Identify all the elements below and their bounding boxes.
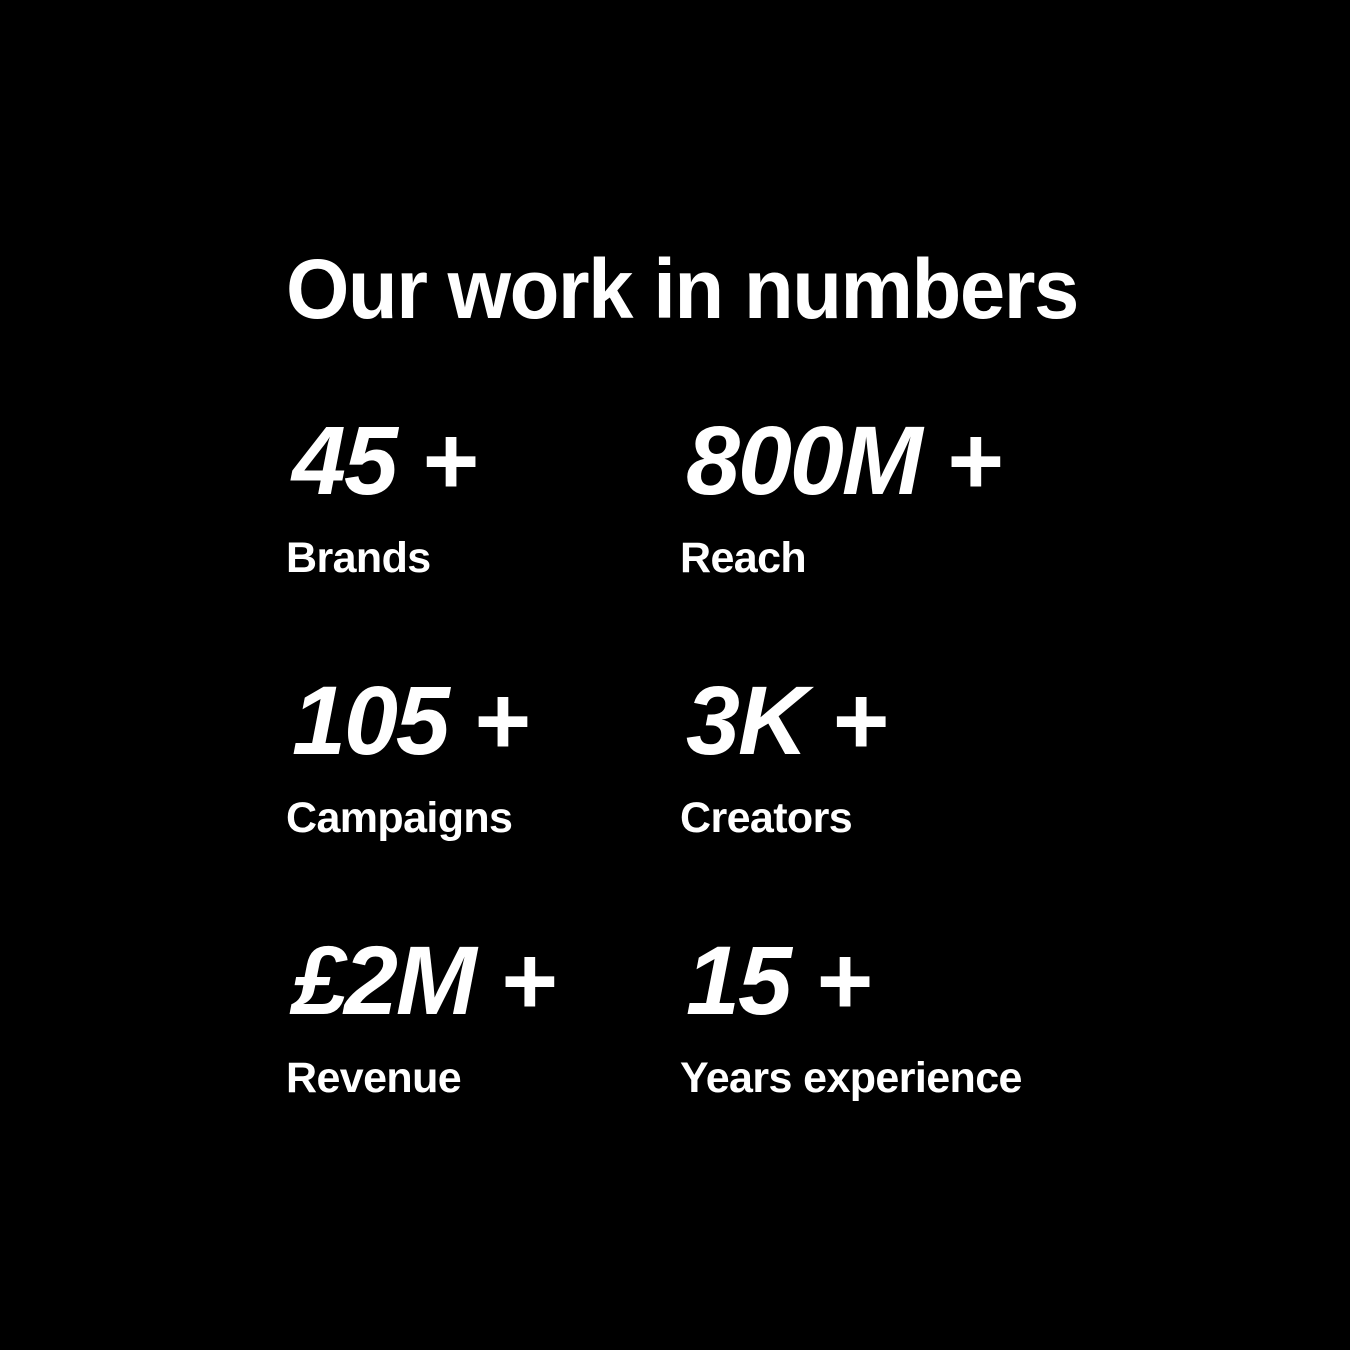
stat-item-campaigns: 105 + Campaigns bbox=[286, 672, 680, 932]
stat-value-reach: 800M + bbox=[686, 412, 1074, 509]
stat-label-reach: Reach bbox=[680, 537, 1074, 580]
stat-label-campaigns: Campaigns bbox=[286, 797, 680, 840]
stat-label-revenue: Revenue bbox=[286, 1057, 680, 1100]
stat-item-reach: 800M + Reach bbox=[680, 412, 1074, 672]
stat-item-revenue: £2M + Revenue bbox=[286, 932, 680, 1192]
stat-value-creators: 3K + bbox=[686, 672, 1074, 769]
stat-item-brands: 45 + Brands bbox=[286, 412, 680, 672]
stat-value-brands: 45 + bbox=[292, 412, 680, 509]
stats-grid: 45 + Brands 800M + Reach 105 + Campaigns… bbox=[286, 412, 1086, 1192]
stat-label-years-experience: Years experience bbox=[680, 1057, 1074, 1100]
stat-item-years-experience: 15 + Years experience bbox=[680, 932, 1074, 1192]
stats-section: Our work in numbers 45 + Brands 800M + R… bbox=[0, 0, 1350, 1350]
stat-value-campaigns: 105 + bbox=[292, 672, 680, 769]
stat-label-creators: Creators bbox=[680, 797, 1074, 840]
stat-label-brands: Brands bbox=[286, 537, 680, 580]
stat-value-years-experience: 15 + bbox=[686, 932, 1074, 1029]
page-title: Our work in numbers bbox=[286, 247, 1078, 331]
stat-item-creators: 3K + Creators bbox=[680, 672, 1074, 932]
stat-value-revenue: £2M + bbox=[292, 932, 680, 1029]
